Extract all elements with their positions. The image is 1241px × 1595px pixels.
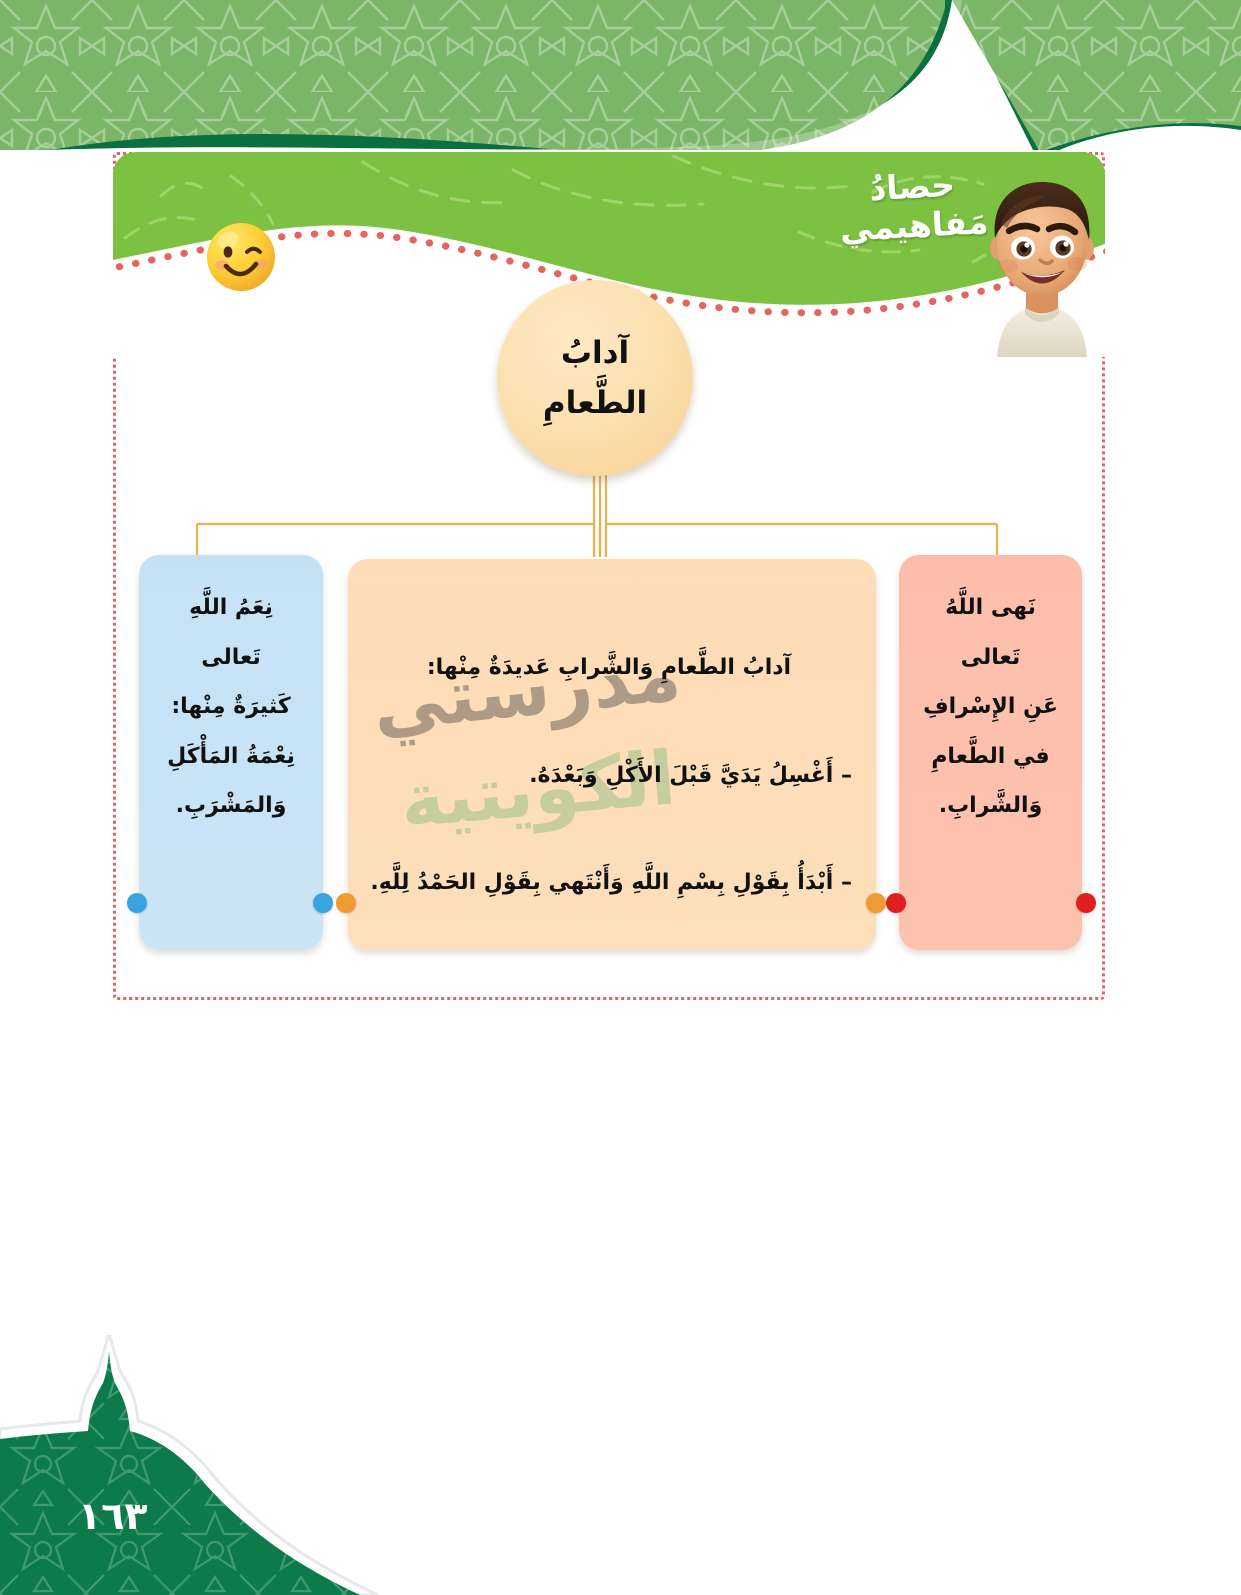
top-decoration xyxy=(0,0,1241,150)
textbook-page: حصادُ مَفاهيمي xyxy=(0,0,1241,1595)
edge-dot-red-outer xyxy=(1076,893,1096,913)
footer-decoration: ١٦٣ xyxy=(0,1335,1241,1595)
edge-dot-orange-right xyxy=(866,893,886,913)
edge-dot-blue-outer xyxy=(127,893,147,913)
branch-box-etiquette: مدرستي الكويتية آدابُ الطَّعامِ وَالشَّر… xyxy=(348,559,876,950)
top-pattern-svg xyxy=(0,0,1241,150)
page-number: ١٦٣ xyxy=(78,1494,148,1538)
concept-map-card: حصادُ مَفاهيمي xyxy=(113,152,1105,1000)
root-node-circle: آدابُ الطَّعامِ xyxy=(497,280,693,476)
footer-dome-svg xyxy=(0,1335,1241,1595)
root-node-label: آدابُ الطَّعامِ xyxy=(543,328,647,428)
branch-boxes: نَهى اللَّهُ تَعالى عَنِ الإِسْرافِ في ا… xyxy=(113,555,1105,967)
edge-dot-blue-inner xyxy=(313,893,333,913)
branch-text-extravagance: نَهى اللَّهُ تَعالى عَنِ الإِسْرافِ في ا… xyxy=(917,583,1064,831)
branch-text-etiquette: آدابُ الطَّعامِ وَالشَّرابِ عَديدَةٌ مِن… xyxy=(366,587,858,950)
branch-box-extravagance: نَهى اللَّهُ تَعالى عَنِ الإِسْرافِ في ا… xyxy=(899,555,1082,950)
etiquette-item-2: – أَبْدَأُ بِقَوْلِ بِسْمِ اللَّهِ وَأَن… xyxy=(370,870,852,895)
branch-box-blessings: نِعَمُ اللَّهِ تَعالى كَثيرَةٌ مِنْها: ن… xyxy=(139,555,323,950)
edge-dot-orange-left xyxy=(336,893,356,913)
etiquette-item-1: – أَغْسِلُ يَدَيَّ قَبْلَ الأَكْلِ وَبَع… xyxy=(529,763,852,788)
edge-dot-red-inner xyxy=(886,893,906,913)
cartoon-boy-avatar xyxy=(979,174,1105,357)
etiquette-heading: آدابُ الطَّعامِ وَالشَّرابِ عَديدَةٌ مِن… xyxy=(366,641,852,695)
page-title: حصادُ مَفاهيمي xyxy=(837,164,989,250)
winking-smiley-face-icon xyxy=(204,220,278,294)
branch-text-blessings: نِعَمُ اللَّهِ تَعالى كَثيرَةٌ مِنْها: ن… xyxy=(157,583,305,831)
